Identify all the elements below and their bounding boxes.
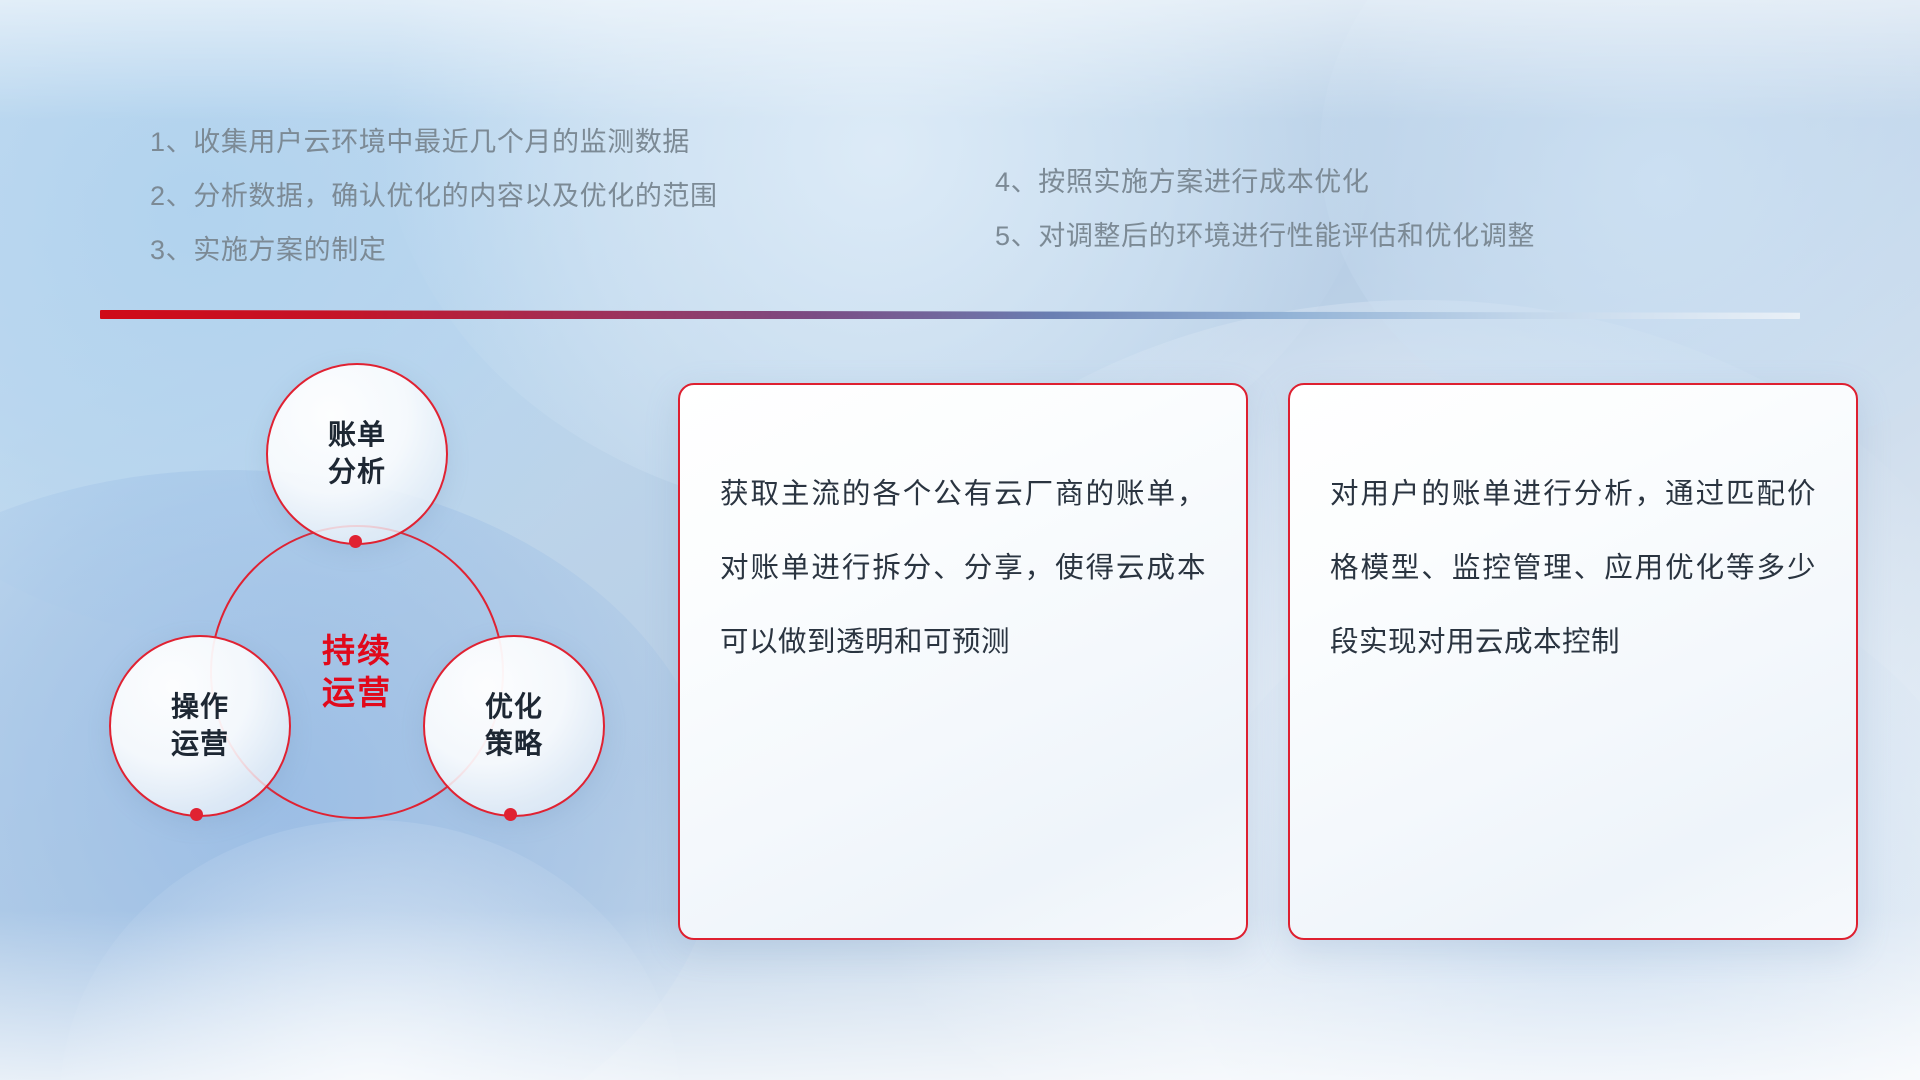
top-light-overlay bbox=[0, 0, 1920, 120]
slide-canvas: 1、收集用户云环境中最近几个月的监测数据 2、分析数据，确认优化的内容以及优化的… bbox=[0, 0, 1920, 1080]
venn-diagram: 持续 运营 账单 分析 操作 运营 优化 策略 bbox=[95, 355, 615, 935]
card-multicloud-billing-platform[interactable]: 获取主流的各个公有云厂商的账单，对账单进行拆分、分享，使得云成本可以做到透明和可… bbox=[678, 383, 1248, 940]
venn-circle-optimization-strategy[interactable]: 优化 策略 bbox=[423, 635, 605, 817]
venn-node-dot-top bbox=[349, 535, 362, 548]
venn-label-operations-line2: 运营 bbox=[171, 728, 229, 759]
venn-circle-operations[interactable]: 操作 运营 bbox=[109, 635, 291, 817]
venn-circle-bill-analysis[interactable]: 账单 分析 bbox=[266, 363, 448, 545]
venn-node-dot-left bbox=[190, 808, 203, 821]
venn-center-label: 持续 运营 bbox=[322, 630, 392, 714]
card-1-description: 获取主流的各个公有云厂商的账单，对账单进行拆分、分享，使得云成本可以做到透明和可… bbox=[720, 457, 1206, 679]
venn-label-operations-line1: 操作 bbox=[171, 691, 229, 722]
steps-list-left: 1、收集用户云环境中最近几个月的监测数据 2、分析数据，确认优化的内容以及优化的… bbox=[150, 115, 890, 277]
step-item-3: 3、实施方案的制定 bbox=[150, 223, 890, 277]
steps-list-right: 4、按照实施方案进行成本优化 5、对调整后的环境进行性能评估和优化调整 bbox=[995, 155, 1755, 263]
venn-label-optimization-strategy-line1: 优化 bbox=[485, 691, 543, 722]
step-item-1: 1、收集用户云环境中最近几个月的监测数据 bbox=[150, 115, 890, 169]
card-2-description: 对用户的账单进行分析，通过匹配价格模型、监控管理、应用优化等多少段实现对用云成本… bbox=[1330, 457, 1816, 679]
venn-node-dot-right bbox=[504, 808, 517, 821]
step-item-5: 5、对调整后的环境进行性能评估和优化调整 bbox=[995, 209, 1755, 263]
card-cloud-cost-optimization[interactable]: 对用户的账单进行分析，通过匹配价格模型、监控管理、应用优化等多少段实现对用云成本… bbox=[1288, 383, 1858, 940]
venn-center-label-line1: 持续 bbox=[322, 632, 392, 669]
venn-center-label-line2: 运营 bbox=[322, 674, 392, 711]
venn-label-optimization-strategy: 优化 策略 bbox=[485, 689, 543, 763]
venn-label-optimization-strategy-line2: 策略 bbox=[485, 728, 543, 759]
section-divider-bar bbox=[100, 310, 1800, 319]
card-2-body: 对用户的账单进行分析，通过匹配价格模型、监控管理、应用优化等多少段实现对用云成本… bbox=[1290, 385, 1856, 679]
venn-label-bill-analysis: 账单 分析 bbox=[328, 417, 386, 491]
venn-label-bill-analysis-line2: 分析 bbox=[328, 456, 386, 487]
venn-label-operations: 操作 运营 bbox=[171, 689, 229, 763]
venn-label-bill-analysis-line1: 账单 bbox=[328, 419, 386, 450]
step-item-4: 4、按照实施方案进行成本优化 bbox=[995, 155, 1755, 209]
step-item-2: 2、分析数据，确认优化的内容以及优化的范围 bbox=[150, 169, 890, 223]
card-1-body: 获取主流的各个公有云厂商的账单，对账单进行拆分、分享，使得云成本可以做到透明和可… bbox=[680, 385, 1246, 679]
